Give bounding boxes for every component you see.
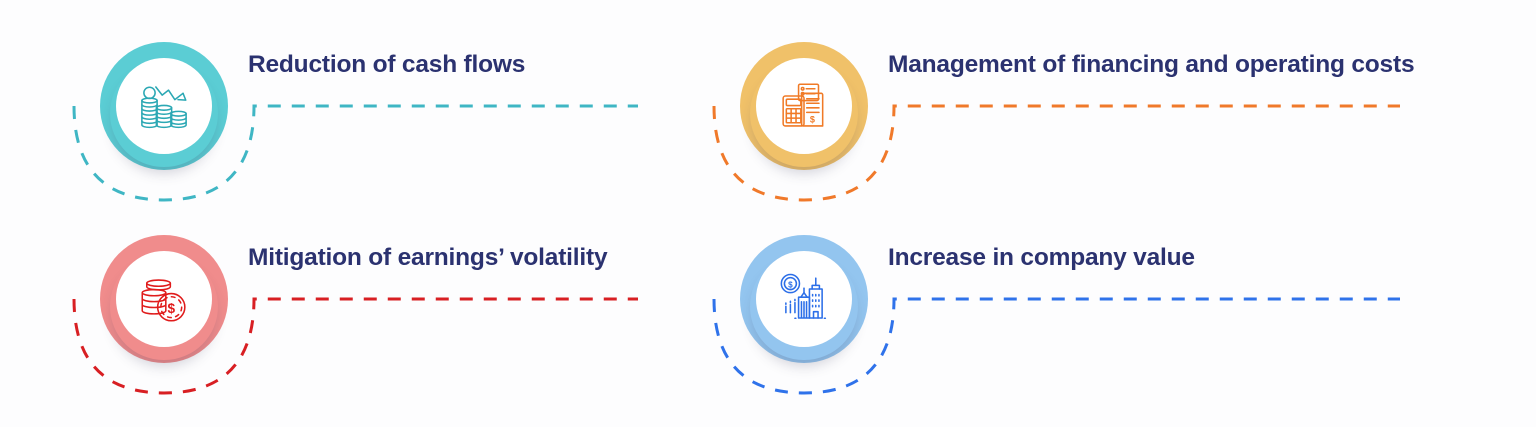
feature-label: Reduction of cash flows <box>248 50 748 80</box>
svg-text:$: $ <box>810 114 815 124</box>
svg-text:$: $ <box>788 281 793 290</box>
icon-badge-inner: $ <box>756 251 852 347</box>
svg-text:$: $ <box>167 301 175 316</box>
feature-item-reduction-of-cash-flows[interactable]: Reduction of cash flows <box>60 22 760 222</box>
feature-label: Increase in company value <box>888 243 1388 273</box>
feature-item-management-of-financing-and-operating-costs[interactable]: $ Management of financing and operating … <box>700 22 1400 222</box>
icon-badge[interactable]: $ <box>740 235 868 363</box>
icon-badge[interactable] <box>100 42 228 170</box>
infographic-canvas: Reduction of cash flows <box>0 0 1536 427</box>
calculator-invoice-icon: $ <box>775 77 833 135</box>
icon-badge-inner: $ <box>756 58 852 154</box>
feature-item-increase-in-company-value[interactable]: $ <box>700 215 1400 415</box>
feature-item-mitigation-of-earnings-volatility[interactable]: $ Mitigation of earnings’ volatility <box>60 215 760 415</box>
feature-label: Mitigation of earnings’ volatility <box>248 243 748 273</box>
icon-badge-inner: $ <box>116 251 212 347</box>
feature-label: Management of financing and operating co… <box>888 50 1388 80</box>
icon-badge[interactable]: $ <box>100 235 228 363</box>
buildings-dollar-coin-icon: $ <box>775 270 833 328</box>
coin-stack-dollar-icon: $ <box>135 270 193 328</box>
icon-badge[interactable]: $ <box>740 42 868 170</box>
icon-badge-inner <box>116 58 212 154</box>
coin-stacks-down-arrow-icon <box>135 77 193 135</box>
